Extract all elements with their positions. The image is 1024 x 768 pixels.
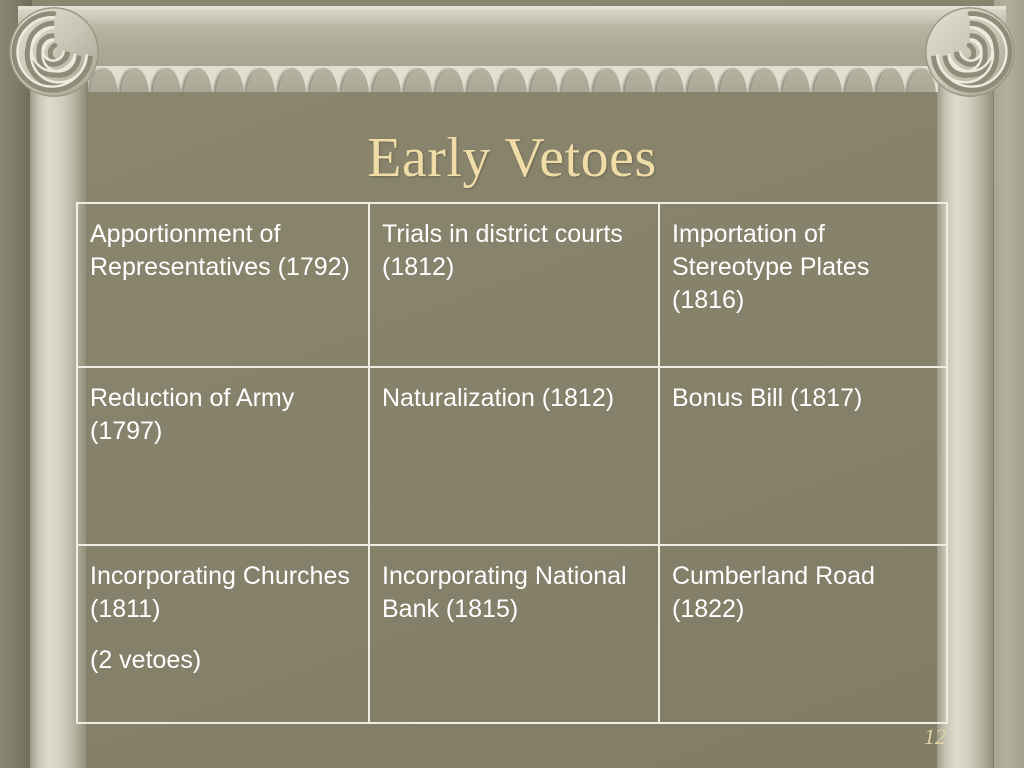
table-cell-line: Incorporating Churches (1811) <box>90 560 358 626</box>
table-cell-line: Trials in district courts (1812) <box>382 218 648 284</box>
table-cell: Bonus Bill (1817) <box>659 367 947 545</box>
bead-icon <box>182 66 213 92</box>
bead-icon <box>308 66 339 92</box>
table-cell: Naturalization (1812) <box>369 367 659 545</box>
bead-icon <box>371 66 402 92</box>
table-row: Reduction of Army (1797)Naturalization (… <box>77 367 947 545</box>
table-cell-line: Apportionment of Representatives (1792) <box>90 218 358 284</box>
table-cell-line: Reduction of Army (1797) <box>90 382 358 448</box>
bead-icon <box>655 66 686 92</box>
table-row: Incorporating Churches (1811)(2 vetoes)I… <box>77 545 947 723</box>
bead-icon <box>686 66 717 92</box>
egg-and-dart-band-icon <box>88 66 938 92</box>
bead-icon <box>560 66 591 92</box>
table-cell: Reduction of Army (1797) <box>77 367 369 545</box>
page-title: Early Vetoes <box>0 124 1024 192</box>
table-cell-line: Bonus Bill (1817) <box>672 382 936 415</box>
bead-icon <box>214 66 245 92</box>
bead-icon <box>844 66 875 92</box>
table-row: Apportionment of Representatives (1792)T… <box>77 203 947 367</box>
bead-icon <box>718 66 749 92</box>
bead-icon <box>340 66 371 92</box>
table-cell-line: Incorporating National Bank (1815) <box>382 560 648 626</box>
table-cell: Incorporating National Bank (1815) <box>369 545 659 723</box>
bead-icon <box>749 66 780 92</box>
capital-slab <box>18 6 1006 71</box>
ionic-volute-icon-right <box>922 4 1018 100</box>
bead-icon <box>277 66 308 92</box>
table-cell-line: Naturalization (1812) <box>382 382 648 415</box>
bead-icon <box>403 66 434 92</box>
bead-icon <box>781 66 812 92</box>
slide-number: 12 <box>924 724 946 750</box>
table-cell: Importation of Stereotype Plates (1816) <box>659 203 947 367</box>
early-vetoes-table: Apportionment of Representatives (1792)T… <box>76 202 948 724</box>
ionic-volute-icon-left <box>6 4 102 100</box>
bead-icon <box>151 66 182 92</box>
bead-icon <box>529 66 560 92</box>
bead-icon <box>434 66 465 92</box>
table-cell-line: (2 vetoes) <box>90 644 358 677</box>
bead-icon <box>466 66 497 92</box>
right-edge-band <box>994 0 1024 768</box>
ionic-capital-icon <box>0 0 1024 92</box>
table-cell: Trials in district courts (1812) <box>369 203 659 367</box>
table-cell: Incorporating Churches (1811)(2 vetoes) <box>77 545 369 723</box>
table-cell: Apportionment of Representatives (1792) <box>77 203 369 367</box>
bead-icon <box>875 66 906 92</box>
bead-icon <box>497 66 528 92</box>
table-cell-line: Importation of Stereotype Plates (1816) <box>672 218 936 317</box>
bead-icon <box>812 66 843 92</box>
bead-icon <box>119 66 150 92</box>
slide-canvas: Early Vetoes Apportionment of Representa… <box>0 0 1024 768</box>
bead-icon <box>623 66 654 92</box>
table-cell: Cumberland Road (1822) <box>659 545 947 723</box>
table-cell-line: Cumberland Road (1822) <box>672 560 936 626</box>
left-edge-band <box>0 0 32 768</box>
bead-icon <box>592 66 623 92</box>
bead-icon <box>245 66 276 92</box>
